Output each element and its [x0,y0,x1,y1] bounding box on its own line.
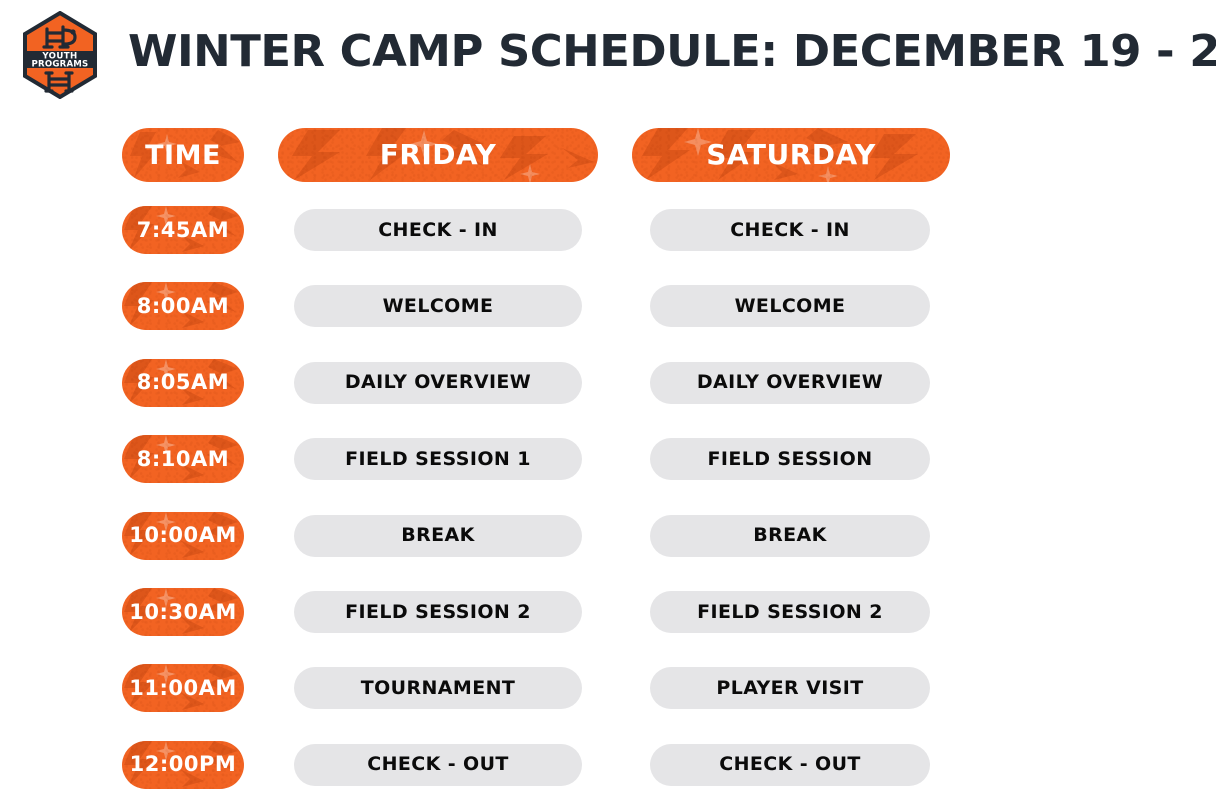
activity-pill-saturday: CHECK - OUT [650,744,930,786]
time-pill: 12:00PM [122,741,244,789]
column-header-friday-label: FRIDAY [380,141,497,169]
activity-pill-friday: CHECK - IN [294,209,582,251]
activity-pill-friday: WELCOME [294,285,582,327]
time-label: 10:00AM [129,525,237,546]
activity-label-friday: BREAK [401,526,475,545]
activity-pill-friday: TOURNAMENT [294,667,582,709]
activity-pill-saturday: BREAK [650,515,930,557]
activity-pill-saturday: PLAYER VISIT [650,667,930,709]
activity-pill-friday: FIELD SESSION 2 [294,591,582,633]
time-pill: 7:45AM [122,206,244,254]
activity-pill-friday: CHECK - OUT [294,744,582,786]
activity-label-friday: FIELD SESSION 2 [345,603,531,622]
column-header-time-label: TIME [145,142,221,169]
time-label: 8:10AM [137,449,229,470]
activity-label-saturday: FIELD SESSION [707,450,872,469]
time-label: 12:00PM [130,754,237,775]
activity-label-saturday: PLAYER VISIT [716,679,863,698]
activity-label-saturday: BREAK [753,526,827,545]
activity-label-friday: WELCOME [383,297,494,316]
time-pill: 8:10AM [122,435,244,483]
activity-label-saturday: DAILY OVERVIEW [697,373,883,392]
column-header-friday: FRIDAY [278,128,598,182]
activity-pill-friday: DAILY OVERVIEW [294,362,582,404]
time-label: 11:00AM [129,678,237,699]
activity-label-saturday: CHECK - IN [730,221,850,240]
activity-pill-saturday: FIELD SESSION [650,438,930,480]
activity-label-saturday: FIELD SESSION 2 [697,603,883,622]
time-pill: 10:30AM [122,588,244,636]
time-label: 8:00AM [137,296,229,317]
schedule-page: YOUTH PROGRAMS WINTER CAMP SCHEDULE: DEC… [0,0,1216,802]
time-pill: 8:05AM [122,359,244,407]
column-header-saturday: SATURDAY [632,128,950,182]
activity-label-saturday: CHECK - OUT [719,755,861,774]
activity-label-friday: DAILY OVERVIEW [345,373,531,392]
activity-pill-friday: FIELD SESSION 1 [294,438,582,480]
activity-pill-saturday: FIELD SESSION 2 [650,591,930,633]
activity-label-friday: CHECK - IN [378,221,498,240]
time-label: 7:45AM [137,220,229,241]
time-pill: 11:00AM [122,664,244,712]
activity-pill-friday: BREAK [294,515,582,557]
column-header-time: TIME [122,128,244,182]
column-header-saturday-label: SATURDAY [706,141,876,169]
activity-label-friday: TOURNAMENT [361,679,516,698]
activity-pill-saturday: WELCOME [650,285,930,327]
activity-label-saturday: WELCOME [735,297,846,316]
activity-pill-saturday: CHECK - IN [650,209,930,251]
activity-label-friday: CHECK - OUT [367,755,509,774]
time-label: 8:05AM [137,372,229,393]
time-label: 10:30AM [129,602,237,623]
time-pill: 10:00AM [122,512,244,560]
activity-pill-saturday: DAILY OVERVIEW [650,362,930,404]
time-pill: 8:00AM [122,282,244,330]
schedule-grid: TIME [0,0,1216,802]
activity-label-friday: FIELD SESSION 1 [345,450,531,469]
